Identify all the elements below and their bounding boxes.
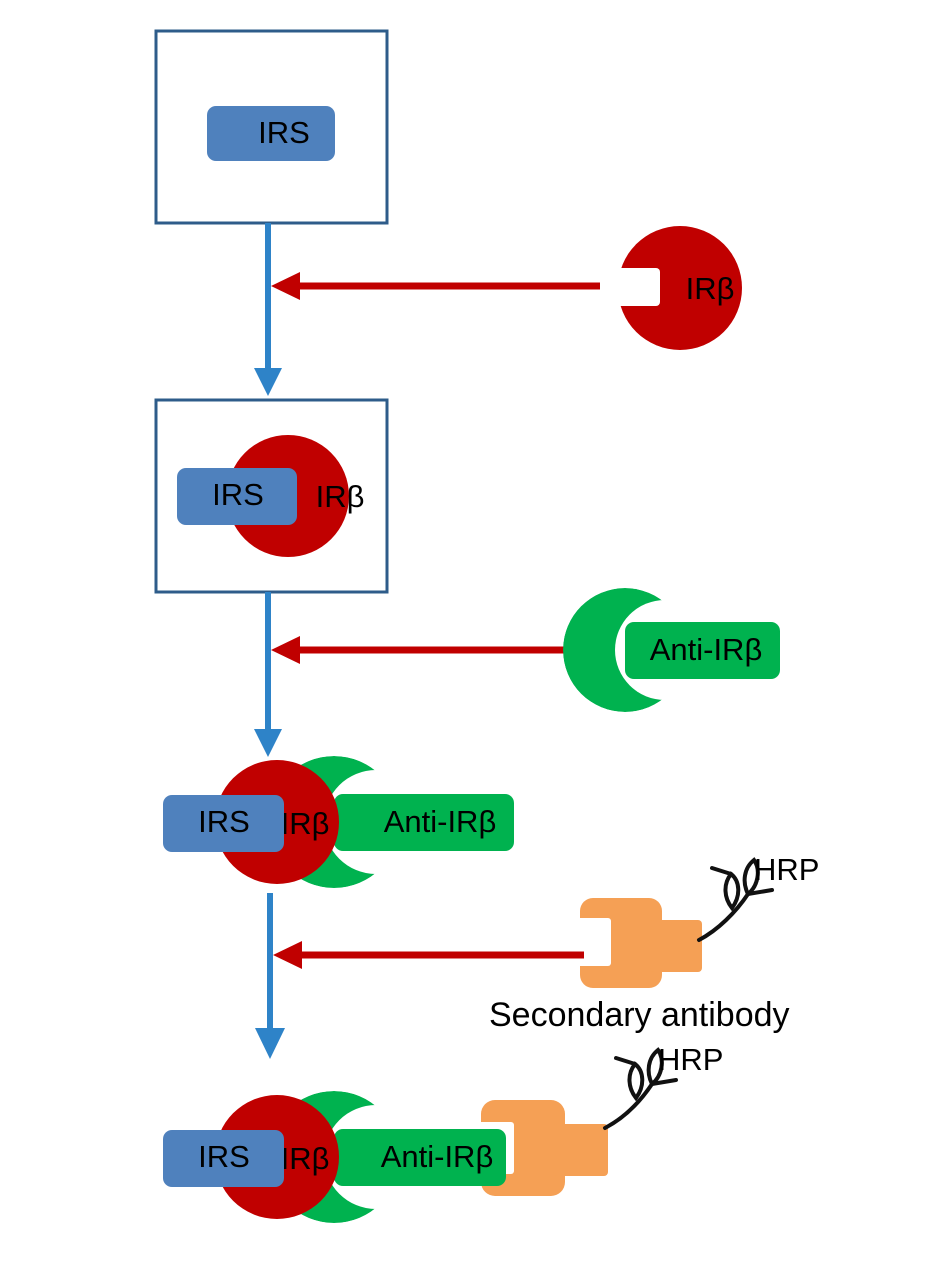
step-4-hrp-label: HRP <box>658 1042 723 1077</box>
process-flow-diagram: IRS IRβ IRβ IRS Anti-IRβ <box>0 0 934 1272</box>
step-2-group: IRβ IRS <box>156 400 387 592</box>
step-2-irbeta-label: IRβ <box>316 479 365 514</box>
anti-irbeta-reagent-label: Anti-IRβ <box>650 632 763 667</box>
step-1-group: IRS <box>156 31 387 223</box>
secondary-antibody-label: Secondary antibody <box>489 996 790 1034</box>
irs-label: IRS <box>258 115 310 150</box>
secondary-antibody-stem <box>650 920 702 972</box>
step-3-irs-label: IRS <box>198 804 250 839</box>
irbeta-reagent-label: IRβ <box>686 271 735 306</box>
reagent-arrow-3 <box>273 941 584 969</box>
step-4-anti-irbeta-label: Anti-IRβ <box>381 1139 494 1174</box>
reagent-arrow-1 <box>271 272 600 300</box>
secondary-antibody-body <box>580 898 662 988</box>
reagent-secondary-antibody: HRP Secondary antibody <box>489 852 819 1034</box>
step-4-group: IRβ IRS Anti-IRβ HRP <box>163 1042 723 1223</box>
step-4-secondary-stem <box>553 1124 608 1176</box>
step-2-irs-label: IRS <box>212 477 264 512</box>
step-3-anti-irbeta-label: Anti-IRβ <box>384 804 497 839</box>
reagent-irbeta: IRβ <box>618 226 742 350</box>
reagent-arrow-2 <box>271 636 600 664</box>
step-4-irbeta-label: IRβ <box>281 1141 330 1176</box>
hrp-label: HRP <box>754 852 819 887</box>
diagram-canvas: IRS IRβ IRβ IRS Anti-IRβ <box>0 0 934 1272</box>
step-4-irs-label: IRS <box>198 1139 250 1174</box>
flow-arrow-1 <box>254 223 282 396</box>
reagent-anti-irbeta: Anti-IRβ <box>563 588 780 712</box>
step-3-group: IRβ IRS Anti-IRβ <box>163 756 514 888</box>
irs-molecule: IRS <box>207 106 335 161</box>
flow-arrow-3 <box>255 893 285 1059</box>
step-3-irbeta-label: IRβ <box>281 806 330 841</box>
flow-arrow-2 <box>254 592 282 757</box>
